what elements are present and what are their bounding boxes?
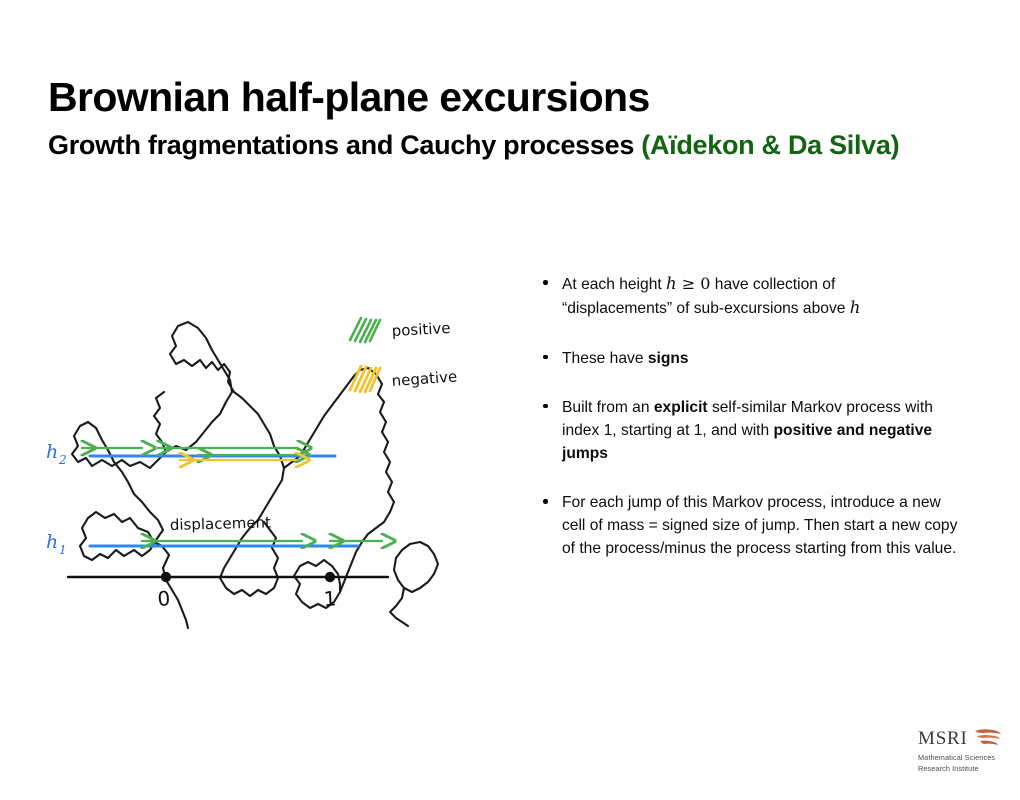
annotation-displacement: displacement	[170, 513, 272, 534]
legend-negative: negative	[350, 366, 458, 392]
msri-logo: MSRI Mathematical Sciences Research Inst…	[918, 728, 1010, 774]
excursion-diagram: displacement h 2 h 1 0 1	[30, 250, 520, 630]
height-label-h1: h 1	[46, 531, 67, 557]
bullet-list: At each height h ≥ 0 have collection of …	[540, 272, 960, 560]
bullet-heights: At each height h ≥ 0 have collection of …	[540, 272, 960, 321]
logo-wordmark: MSRI	[918, 729, 968, 748]
bullet-markov-seg1: Built from an	[562, 399, 654, 416]
math-number-zero: 0	[700, 274, 710, 293]
axis-label-1: 1	[323, 586, 337, 611]
bullet-dot-icon	[543, 280, 548, 285]
axis-point-0	[161, 572, 171, 582]
bullet-heights-pre: At each height	[562, 276, 666, 293]
bullet-signs-emphasis: signs	[648, 350, 689, 367]
bullet-dot-icon	[543, 499, 548, 504]
height-label-h2: h 2	[46, 441, 67, 467]
legend-label-positive: positive	[391, 319, 451, 340]
excursion-curve	[72, 322, 438, 628]
bullet-dot-icon	[543, 404, 548, 409]
title-block: Brownian half-plane excursions Growth fr…	[48, 76, 988, 161]
bullet-heights-post: have collection of	[710, 276, 835, 293]
bullet-markov-emphasis-explicit: explicit	[654, 399, 708, 416]
bullet-jumps-text: For each jump of this Markov process, in…	[562, 494, 957, 557]
logo-subtitle-line1: Mathematical Sciences	[918, 753, 1010, 764]
math-variable-h-2: h	[850, 298, 861, 317]
bullet-dot-icon	[543, 355, 548, 360]
subtitle-text: Growth fragmentations and Cauchy process…	[48, 130, 634, 160]
displacement-arrows-h2	[82, 448, 298, 455]
logo-subtitle-line2: Research Institute	[918, 764, 1010, 775]
msri-wave-mark-icon	[973, 728, 1003, 748]
axis-label-0: 0	[157, 586, 171, 611]
bullet-heights-line2: “displacements” of sub-excursions above	[562, 300, 850, 317]
math-variable-h: h	[666, 274, 677, 293]
logo-subtitle: Mathematical Sciences Research Institute	[918, 753, 1010, 774]
bullet-signs-pre: These have	[562, 350, 648, 367]
bullet-jumps: For each jump of this Markov process, in…	[540, 491, 960, 560]
svg-text:1: 1	[59, 543, 67, 557]
slide-canvas: Brownian half-plane excursions Growth fr…	[0, 0, 1020, 800]
axis-point-1	[325, 572, 335, 582]
logo-top-row: MSRI	[918, 728, 1010, 748]
subtitle-line: Growth fragmentations and Cauchy process…	[48, 131, 988, 161]
authors-citation: (Aïdekon & Da Silva)	[641, 130, 899, 160]
legend-positive: positive	[350, 318, 451, 342]
bullet-signs: These have signs	[540, 347, 960, 370]
legend-label-negative: negative	[391, 367, 458, 390]
svg-text:h: h	[46, 531, 58, 553]
svg-text:h: h	[46, 441, 58, 463]
bullet-markov: Built from an explicit self-similar Mark…	[540, 396, 960, 465]
svg-text:2: 2	[58, 453, 67, 467]
page-title: Brownian half-plane excursions	[48, 76, 988, 119]
math-relation-geq: ≥	[677, 274, 701, 293]
